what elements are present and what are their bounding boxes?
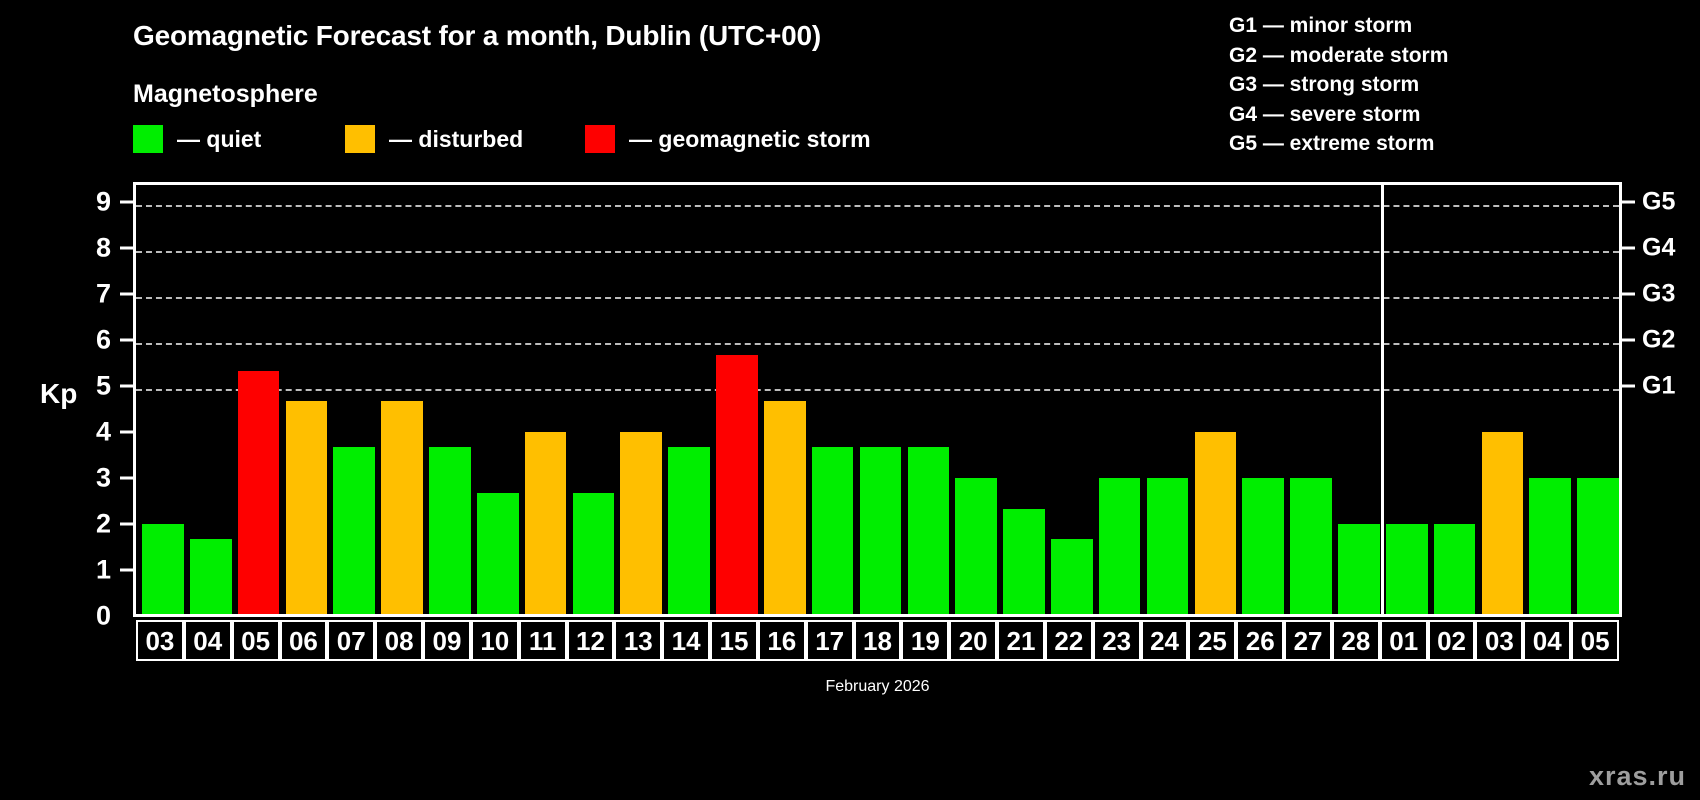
day-label-text: 14 bbox=[672, 628, 701, 654]
g-tick-label-G1: G1 bbox=[1642, 372, 1675, 401]
storm-scale-row: G5 — extreme storm bbox=[1229, 129, 1448, 159]
day-label-16-13[interactable]: 16 bbox=[758, 620, 806, 661]
bar-day-03[interactable] bbox=[142, 524, 184, 616]
bar-day-28[interactable] bbox=[1338, 524, 1380, 616]
g-tick-mark-G2 bbox=[1622, 339, 1635, 342]
y-tick-label-8: 8 bbox=[96, 233, 111, 264]
y-tick-mark-7 bbox=[120, 293, 133, 296]
day-label-01-26[interactable]: 01 bbox=[1380, 620, 1428, 661]
day-label-text: 15 bbox=[720, 628, 749, 654]
y-tick-label-1: 1 bbox=[96, 555, 111, 586]
day-label-05-30[interactable]: 05 bbox=[1571, 620, 1619, 661]
day-label-text: 11 bbox=[529, 628, 557, 654]
y-tick-label-6: 6 bbox=[96, 325, 111, 356]
day-label-text: 19 bbox=[911, 628, 940, 654]
gridline-kp-6 bbox=[136, 343, 1619, 345]
legend-item-label: — quiet bbox=[177, 126, 261, 153]
day-label-text: 05 bbox=[1581, 628, 1610, 654]
legend-item-quiet: — quiet bbox=[133, 124, 261, 154]
day-label-12-9[interactable]: 12 bbox=[567, 620, 615, 661]
y-tick-label-9: 9 bbox=[96, 187, 111, 218]
day-label-text: 09 bbox=[432, 628, 461, 654]
bar-day-07[interactable] bbox=[333, 447, 375, 616]
g-tick-mark-G4 bbox=[1622, 247, 1635, 250]
gridline-kp-9 bbox=[136, 205, 1619, 207]
green-square-icon bbox=[133, 125, 163, 153]
bar-day-05[interactable] bbox=[238, 371, 280, 616]
day-label-09-6[interactable]: 09 bbox=[423, 620, 471, 661]
day-label-11-8[interactable]: 11 bbox=[519, 620, 567, 661]
gridline-kp-7 bbox=[136, 297, 1619, 299]
y-tick-label-7: 7 bbox=[96, 279, 111, 310]
y-tick-mark-2 bbox=[120, 523, 133, 526]
day-label-24-21[interactable]: 24 bbox=[1141, 620, 1189, 661]
day-label-text: 07 bbox=[337, 628, 366, 654]
day-label-text: 06 bbox=[289, 628, 318, 654]
day-label-27-24[interactable]: 27 bbox=[1284, 620, 1332, 661]
day-label-26-23[interactable]: 26 bbox=[1236, 620, 1284, 661]
bar-day-23[interactable] bbox=[1099, 478, 1141, 616]
y-tick-label-4: 4 bbox=[96, 417, 111, 448]
bar-day-13[interactable] bbox=[620, 432, 662, 616]
y-tick-mark-6 bbox=[120, 339, 133, 342]
month-divider-line bbox=[1381, 185, 1384, 616]
plot-area bbox=[133, 182, 1622, 616]
y-tick-mark-9 bbox=[120, 201, 133, 204]
bar-day-03[interactable] bbox=[1482, 432, 1524, 616]
day-label-text: 27 bbox=[1294, 628, 1323, 654]
storm-scale-legend: G1 — minor stormG2 — moderate stormG3 — … bbox=[1229, 11, 1448, 159]
day-label-14-11[interactable]: 14 bbox=[662, 620, 710, 661]
bar-day-20[interactable] bbox=[955, 478, 997, 616]
bar-day-06[interactable] bbox=[286, 401, 328, 616]
bar-day-26[interactable] bbox=[1242, 478, 1284, 616]
day-label-15-12[interactable]: 15 bbox=[710, 620, 758, 661]
bar-day-25[interactable] bbox=[1195, 432, 1237, 616]
month-label: February 2026 bbox=[825, 678, 929, 695]
bar-day-11[interactable] bbox=[525, 432, 567, 616]
bar-day-21[interactable] bbox=[1003, 509, 1045, 616]
day-label-04-1[interactable]: 04 bbox=[184, 620, 232, 661]
y-tick-label-3: 3 bbox=[96, 463, 111, 494]
y-tick-mark-1 bbox=[120, 569, 133, 572]
bar-day-10[interactable] bbox=[477, 493, 519, 616]
day-label-20-17[interactable]: 20 bbox=[949, 620, 997, 661]
day-label-04-29[interactable]: 04 bbox=[1523, 620, 1571, 661]
watermark: xras.ru bbox=[1589, 761, 1686, 792]
day-label-text: 03 bbox=[1485, 628, 1514, 654]
bar-day-19[interactable] bbox=[908, 447, 950, 616]
bar-day-22[interactable] bbox=[1051, 539, 1093, 616]
bar-day-17[interactable] bbox=[812, 447, 854, 616]
bar-day-09[interactable] bbox=[429, 447, 471, 616]
y-tick-mark-5 bbox=[120, 385, 133, 388]
day-label-text: 21 bbox=[1007, 628, 1036, 654]
storm-scale-row: G2 — moderate storm bbox=[1229, 41, 1448, 71]
day-label-text: 02 bbox=[1437, 628, 1466, 654]
day-label-05-2[interactable]: 05 bbox=[232, 620, 280, 661]
day-label-06-3[interactable]: 06 bbox=[280, 620, 328, 661]
day-label-19-16[interactable]: 19 bbox=[901, 620, 949, 661]
storm-scale-row: G1 — minor storm bbox=[1229, 11, 1448, 41]
day-label-23-20[interactable]: 23 bbox=[1093, 620, 1141, 661]
day-label-text: 25 bbox=[1198, 628, 1227, 654]
y-tick-mark-4 bbox=[120, 431, 133, 434]
day-label-text: 04 bbox=[1533, 628, 1562, 654]
storm-scale-row: G4 — severe storm bbox=[1229, 100, 1448, 130]
day-label-text: 22 bbox=[1054, 628, 1083, 654]
legend-item-geomagneticstorm: — geomagnetic storm bbox=[585, 124, 871, 154]
gridline-kp-5 bbox=[136, 389, 1619, 391]
legend-item-label: — geomagnetic storm bbox=[629, 126, 871, 153]
day-label-text: 16 bbox=[767, 628, 796, 654]
g-tick-label-G5: G5 bbox=[1642, 188, 1675, 217]
day-label-22-19[interactable]: 22 bbox=[1045, 620, 1093, 661]
day-label-text: 23 bbox=[1102, 628, 1131, 654]
bar-day-04[interactable] bbox=[190, 539, 232, 616]
chart-subtitle: Magnetosphere bbox=[133, 80, 318, 109]
day-label-text: 26 bbox=[1246, 628, 1275, 654]
day-label-text: 20 bbox=[959, 628, 988, 654]
x-axis-line bbox=[133, 614, 1622, 617]
page-title: Geomagnetic Forecast for a month, Dublin… bbox=[133, 20, 821, 52]
geomagnetic-forecast-chart: Geomagnetic Forecast for a month, Dublin… bbox=[0, 0, 1700, 800]
day-label-03-0[interactable]: 03 bbox=[136, 620, 184, 661]
day-label-text: 10 bbox=[480, 628, 509, 654]
legend-item-disturbed: — disturbed bbox=[345, 124, 523, 154]
bar-day-12[interactable] bbox=[573, 493, 615, 616]
legend-item-label: — disturbed bbox=[389, 126, 523, 153]
day-label-text: 04 bbox=[193, 628, 222, 654]
bar-day-01[interactable] bbox=[1386, 524, 1428, 616]
day-label-13-10[interactable]: 13 bbox=[614, 620, 662, 661]
bar-day-18[interactable] bbox=[860, 447, 902, 616]
day-label-07-4[interactable]: 07 bbox=[327, 620, 375, 661]
g-tick-mark-G1 bbox=[1622, 385, 1635, 388]
day-label-10-7[interactable]: 10 bbox=[471, 620, 519, 661]
g-tick-mark-G5 bbox=[1622, 201, 1635, 204]
day-label-text: 24 bbox=[1150, 628, 1179, 654]
day-label-08-5[interactable]: 08 bbox=[375, 620, 423, 661]
bar-day-14[interactable] bbox=[668, 447, 710, 616]
day-label-text: 03 bbox=[145, 628, 174, 654]
month-label-wrap: February 2026 bbox=[133, 678, 1622, 696]
day-label-text: 18 bbox=[863, 628, 892, 654]
y-tick-label-5: 5 bbox=[96, 371, 111, 402]
g-tick-label-G3: G3 bbox=[1642, 280, 1675, 309]
day-label-text: 17 bbox=[815, 628, 844, 654]
y-tick-mark-3 bbox=[120, 477, 133, 480]
y-tick-label-2: 2 bbox=[96, 509, 111, 540]
orange-square-icon bbox=[345, 125, 375, 153]
bar-day-02[interactable] bbox=[1434, 524, 1476, 616]
day-label-text: 05 bbox=[241, 628, 270, 654]
g-tick-label-G2: G2 bbox=[1642, 326, 1675, 355]
bar-day-15[interactable] bbox=[716, 355, 758, 616]
storm-scale-row: G3 — strong storm bbox=[1229, 70, 1448, 100]
red-square-icon bbox=[585, 125, 615, 153]
bar-day-05[interactable] bbox=[1577, 478, 1619, 616]
day-label-text: 08 bbox=[385, 628, 414, 654]
day-label-18-15[interactable]: 18 bbox=[854, 620, 902, 661]
bar-day-27[interactable] bbox=[1290, 478, 1332, 616]
bar-day-08[interactable] bbox=[381, 401, 423, 616]
day-label-17-14[interactable]: 17 bbox=[806, 620, 854, 661]
y-tick-mark-8 bbox=[120, 247, 133, 250]
day-label-21-18[interactable]: 21 bbox=[997, 620, 1045, 661]
y-axis-label: Kp bbox=[40, 378, 77, 410]
bar-day-04[interactable] bbox=[1529, 478, 1571, 616]
day-label-25-22[interactable]: 25 bbox=[1188, 620, 1236, 661]
g-tick-label-G4: G4 bbox=[1642, 234, 1675, 263]
bar-day-16[interactable] bbox=[764, 401, 806, 616]
day-label-text: 12 bbox=[576, 628, 605, 654]
gridline-kp-8 bbox=[136, 251, 1619, 253]
y-tick-label-0: 0 bbox=[96, 601, 111, 632]
day-label-02-27[interactable]: 02 bbox=[1428, 620, 1476, 661]
day-label-text: 01 bbox=[1389, 628, 1418, 654]
day-label-text: 13 bbox=[624, 628, 653, 654]
day-label-28-25[interactable]: 28 bbox=[1332, 620, 1380, 661]
day-label-text: 28 bbox=[1341, 628, 1370, 654]
day-label-03-28[interactable]: 03 bbox=[1475, 620, 1523, 661]
bar-day-24[interactable] bbox=[1147, 478, 1189, 616]
g-tick-mark-G3 bbox=[1622, 293, 1635, 296]
